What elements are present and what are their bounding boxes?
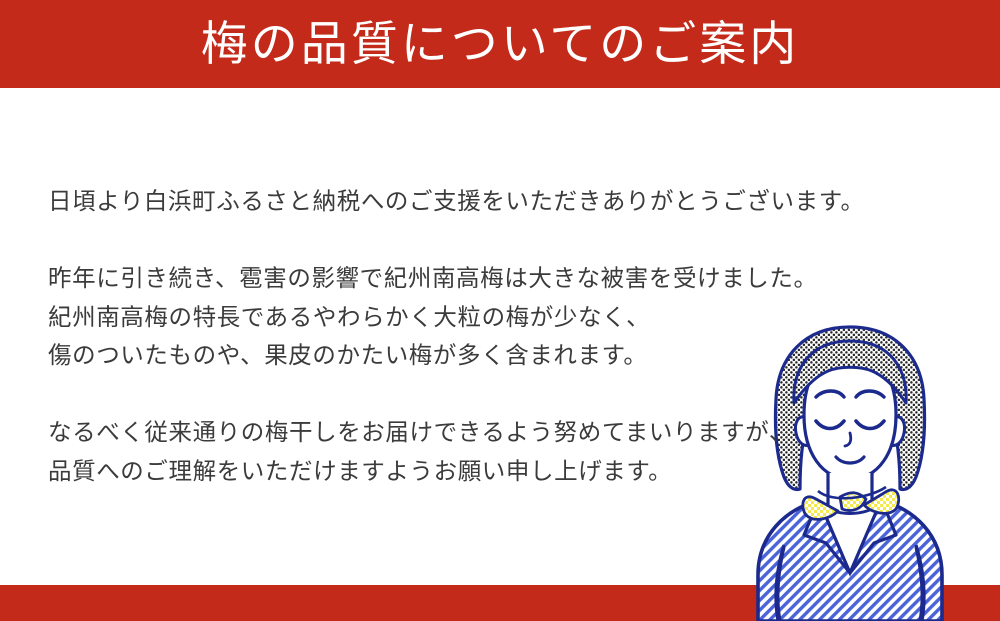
text-line: 傷のついたものや、果皮のかたい梅が多く含まれます。 bbox=[48, 336, 878, 375]
text-line: なるべく従来通りの梅干しをお届けできるよう努めてまいりますが、 bbox=[48, 413, 878, 452]
text-line: 品質へのご理解をいただけますようお願い申し上げます。 bbox=[48, 452, 878, 491]
notice-page: 梅の品質についてのご案内 日頃より白浜町ふるさと納税へのご支援をいただきありがと… bbox=[0, 0, 1000, 621]
text-line: 紀州南高梅の特長であるやわらかく大粒の梅が少なく、 bbox=[48, 298, 878, 337]
suit bbox=[758, 501, 942, 621]
header-band: 梅の品質についてのご案内 bbox=[0, 0, 1000, 88]
text-line: 日頃より白浜町ふるさと納税へのご支援をいただきありがとうございます。 bbox=[48, 182, 878, 221]
notice-body: 日頃より白浜町ふるさと納税へのご支援をいただきありがとうございます。 昨年に引き… bbox=[48, 182, 878, 490]
paragraph-greeting: 日頃より白浜町ふるさと納税へのご支援をいただきありがとうございます。 bbox=[48, 182, 878, 221]
paragraph-request: なるべく従来通りの梅干しをお届けできるよう努めてまいりますが、 品質へのご理解を… bbox=[48, 413, 878, 490]
paragraph-damage-notice: 昨年に引き続き、雹害の影響で紀州南高梅は大きな被害を受けました。 紀州南高梅の特… bbox=[48, 259, 878, 375]
page-title: 梅の品質についてのご案内 bbox=[201, 21, 800, 68]
text-line: 昨年に引き続き、雹害の影響で紀州南高梅は大きな被害を受けました。 bbox=[48, 259, 878, 298]
